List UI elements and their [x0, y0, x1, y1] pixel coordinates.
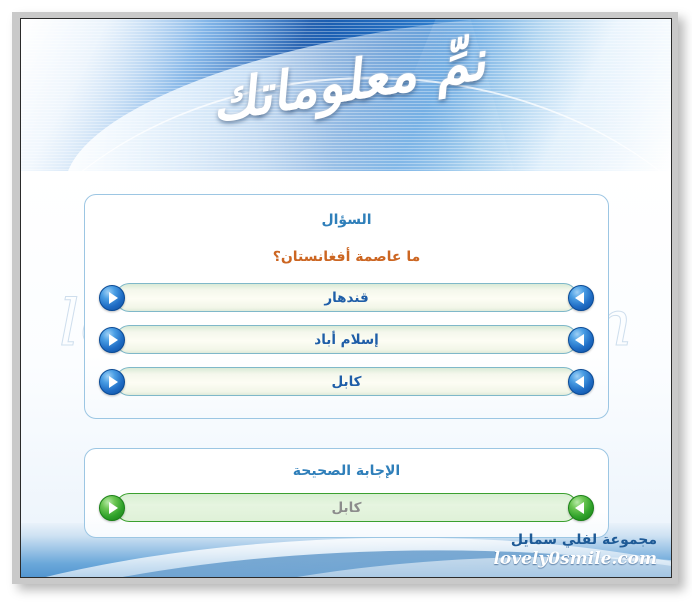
answer-panel: الإجابة الصحيحة كابل	[84, 448, 609, 538]
question-panel: السؤال ما عاصمة أفغانستان؟ قندهار	[84, 194, 609, 419]
triangle-right-glyph	[109, 502, 118, 514]
option-list: قندهار إسلام أباد	[85, 283, 608, 398]
question-panel-heading: السؤال	[85, 212, 608, 228]
question-text: ما عاصمة أفغانستان؟	[85, 249, 608, 265]
brand-arabic-text: مجموعة لفلي سمايل	[493, 532, 657, 548]
body-area: lovely0smile.com السؤال ما عاصمة أفغانست…	[21, 171, 671, 523]
answer-bar: كابل	[115, 493, 578, 522]
play-circle-left-icon[interactable]	[568, 285, 594, 311]
triangle-right-glyph	[109, 292, 118, 304]
option-bar[interactable]: كابل	[115, 367, 578, 396]
option-row[interactable]: كابل	[95, 367, 598, 398]
footer-brand: مجموعة لفلي سمايل lovely0smile.com	[493, 532, 657, 569]
triangle-right-glyph	[109, 376, 118, 388]
option-bar[interactable]: إسلام أباد	[115, 325, 578, 354]
option-label: إسلام أباد	[314, 332, 378, 348]
play-circle-right-icon[interactable]	[99, 285, 125, 311]
answer-label: كابل	[331, 500, 361, 516]
option-bar[interactable]: قندهار	[115, 283, 578, 312]
play-circle-right-icon[interactable]	[99, 369, 125, 395]
answer-panel-heading: الإجابة الصحيحة	[85, 463, 608, 479]
brand-site-text[interactable]: lovely0smile.com	[493, 549, 657, 569]
answer-row: كابل	[85, 493, 608, 524]
option-label: كابل	[331, 374, 361, 390]
play-circle-right-green-icon	[99, 495, 125, 521]
option-label: قندهار	[324, 290, 368, 306]
triangle-left-glyph	[575, 334, 584, 346]
option-row[interactable]: قندهار	[95, 283, 598, 314]
play-circle-left-icon[interactable]	[568, 327, 594, 353]
triangle-left-glyph	[575, 502, 584, 514]
play-circle-left-green-icon	[568, 495, 594, 521]
play-circle-left-icon[interactable]	[568, 369, 594, 395]
play-circle-right-icon[interactable]	[99, 327, 125, 353]
triangle-left-glyph	[575, 376, 584, 388]
triangle-right-glyph	[109, 334, 118, 346]
triangle-left-glyph	[575, 292, 584, 304]
header-banner: نمِّ معلوماتك	[21, 19, 671, 171]
page-frame: نمِّ معلوماتك lovely0smile.com السؤال ما…	[0, 0, 692, 602]
content-card: نمِّ معلوماتك lovely0smile.com السؤال ما…	[20, 18, 672, 578]
option-row[interactable]: إسلام أباد	[95, 325, 598, 356]
